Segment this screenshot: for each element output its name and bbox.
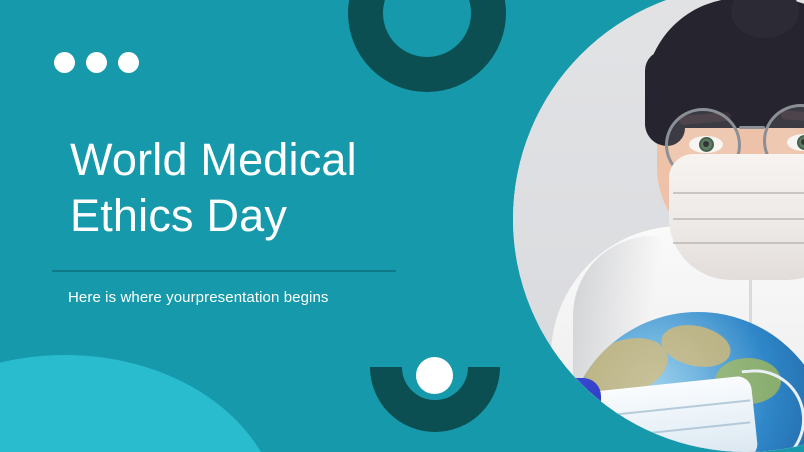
decorative-circle-bottom-left [0,355,280,452]
presentation-slide: World Medical Ethics Day Here is where y… [0,0,804,452]
gloved-hand-left [535,378,601,452]
decorative-white-circle-bottom [416,357,453,394]
hero-photo [513,0,804,452]
title-block: World Medical Ethics Day [70,132,490,244]
face-mask [669,154,804,280]
dot-1-icon [54,52,75,73]
face-mask-fold [673,242,804,244]
dot-3-icon [118,52,139,73]
slide-subtitle: Here is where yourpresentation begins [68,289,329,306]
eyeglasses-bridge [739,126,765,129]
decorative-ring-top [348,0,506,92]
decorative-dots-row [54,52,139,73]
dot-2-icon [86,52,107,73]
face-mask-fold [673,218,804,220]
face-mask-fold [673,192,804,194]
slide-title: World Medical Ethics Day [70,132,490,244]
title-divider [52,270,396,272]
hero-photo-illustration [513,0,804,452]
